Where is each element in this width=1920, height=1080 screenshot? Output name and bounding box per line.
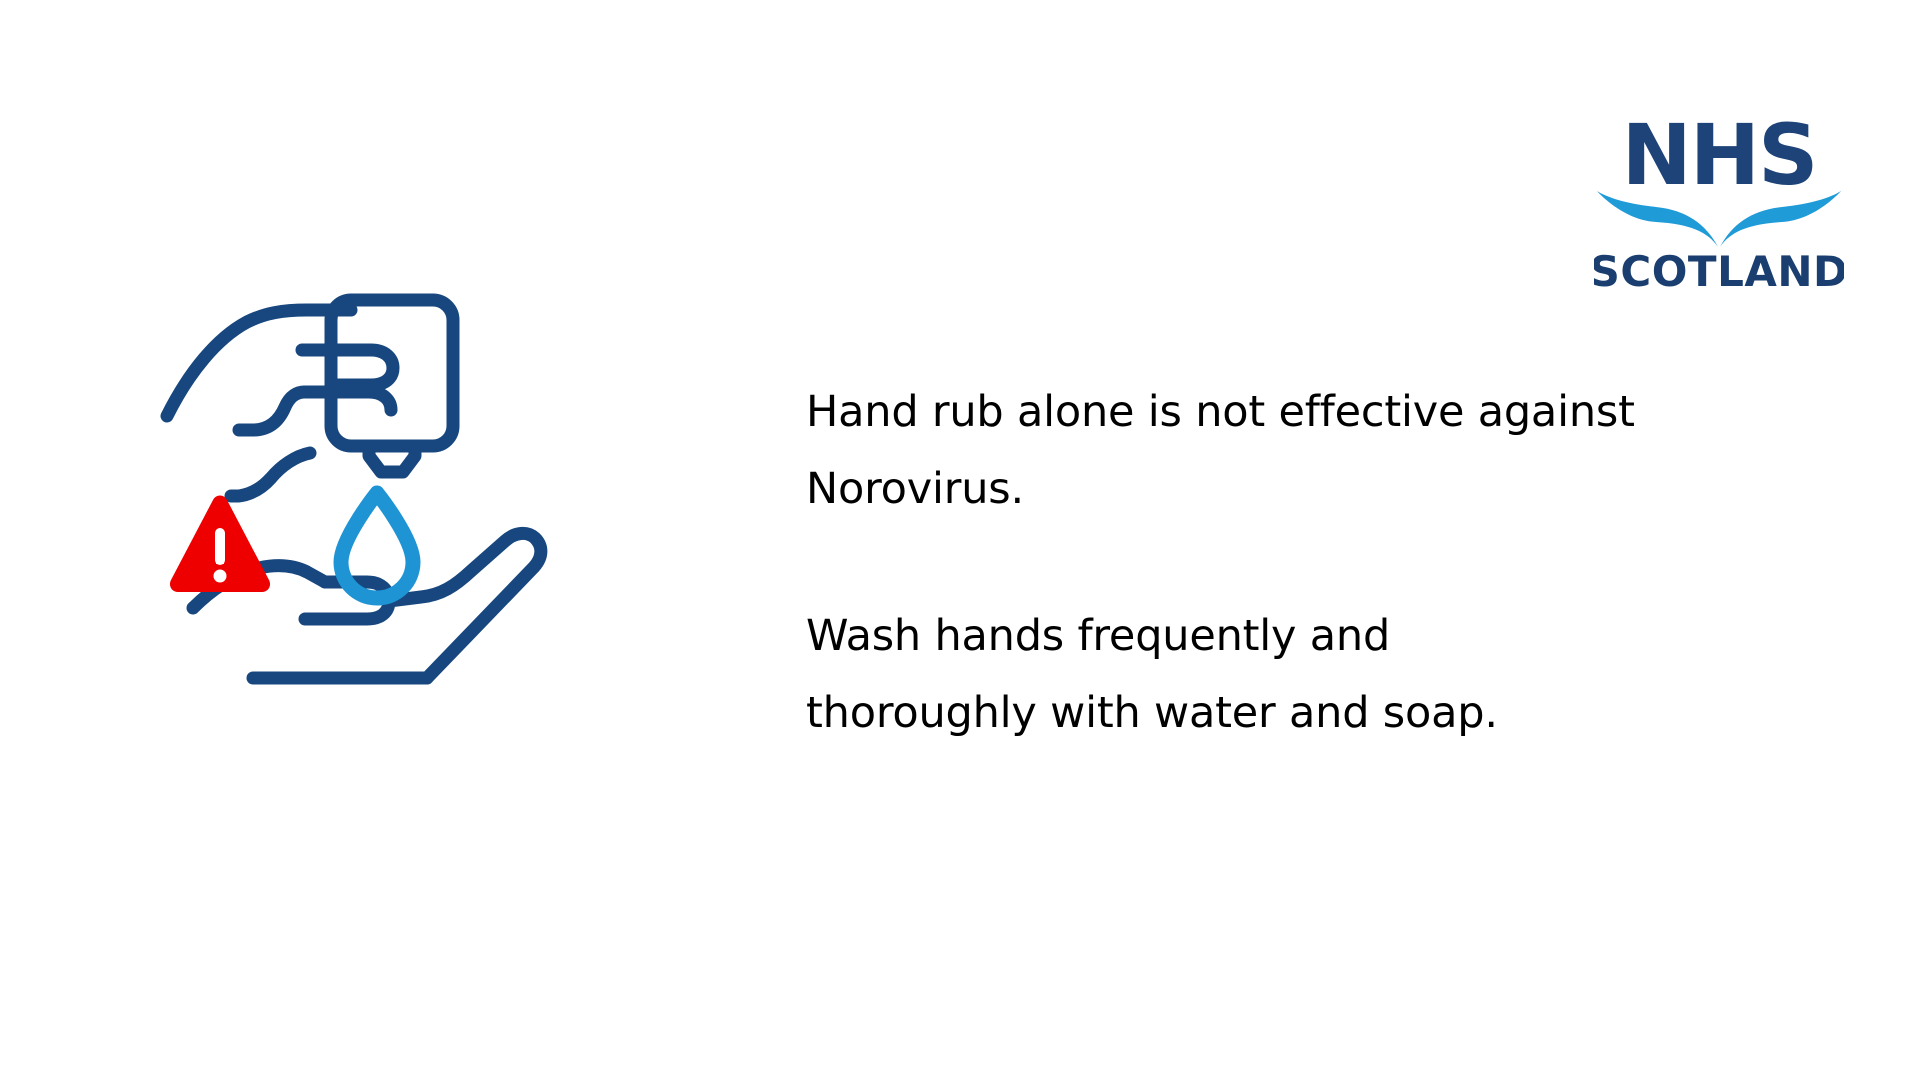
pressing-hand-back	[167, 310, 351, 416]
warning-exclamation-dot	[214, 570, 227, 583]
pressing-hand-thumb	[231, 453, 310, 496]
nhs-wordmark: NHS	[1621, 106, 1816, 204]
message-paragraph-1: Hand rub alone is not effective against …	[806, 374, 1806, 528]
pressing-hand-middle-finger	[305, 392, 391, 410]
slide-canvas: NHS SCOTLAND	[0, 0, 1920, 1080]
nhs-scotland-logo: NHS SCOTLAND	[1594, 98, 1844, 294]
message-text-block: Hand rub alone is not effective against …	[806, 374, 1806, 752]
warning-exclamation-bar	[215, 528, 225, 565]
paragraph-spacer	[806, 528, 1806, 598]
hand-hygiene-illustration	[155, 288, 585, 728]
hand-hygiene-illustration-svg	[155, 288, 585, 728]
message-paragraph-2: Wash hands frequently and thoroughly wit…	[806, 598, 1806, 752]
pressing-hand-curled-fingers	[239, 392, 305, 430]
nhs-scotland-logo-svg: NHS SCOTLAND	[1594, 98, 1844, 294]
nhs-scotland-sub-wordmark: SCOTLAND	[1594, 247, 1844, 294]
warning-triangle-icon	[170, 496, 270, 593]
pressing-hand-index-finger	[302, 350, 393, 385]
